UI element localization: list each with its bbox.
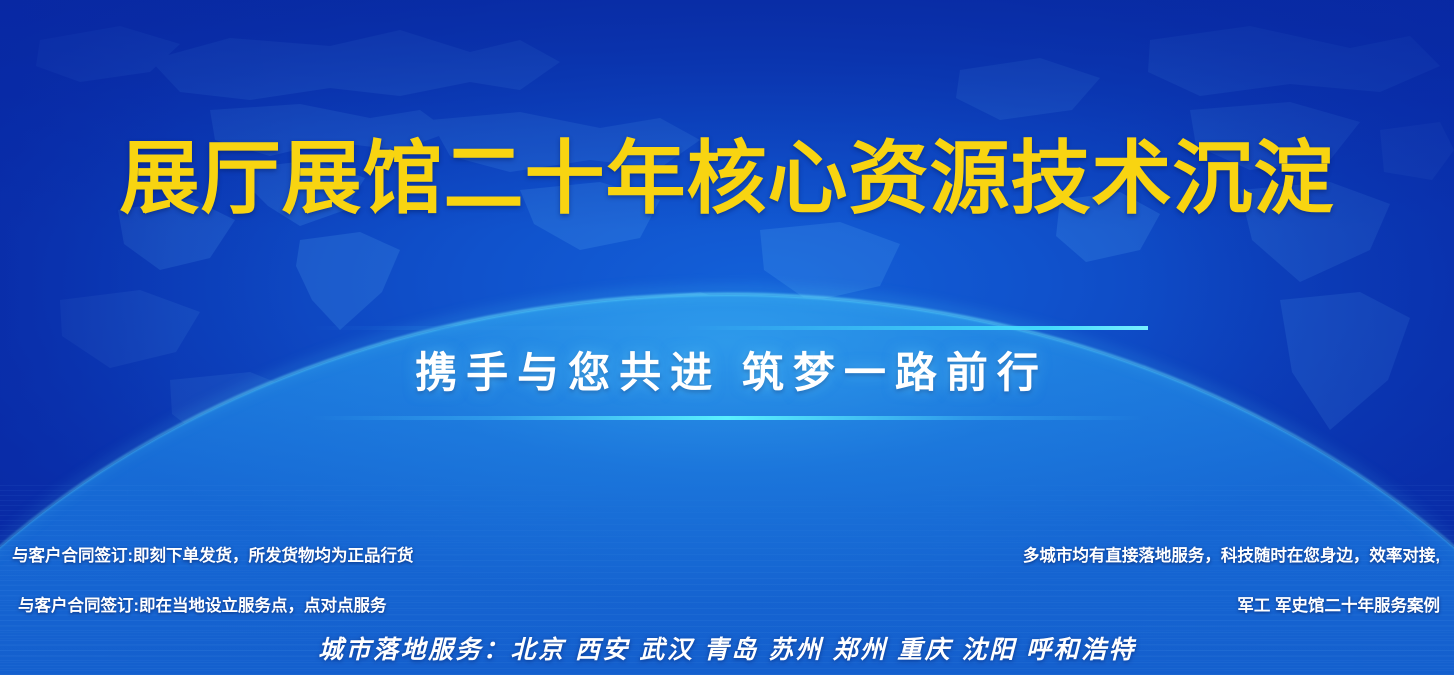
subtitle-text: 携手与您共进 筑梦一路前行 [306,330,1148,416]
cities-service-line: 城市落地服务：北京 西安 武汉 青岛 苏州 郑州 重庆 沈阳 呼和浩特 [0,630,1454,666]
subtitle-rule-bottom [306,416,1148,420]
note-right-2: 军工 军史馆二十年服务案例 [1237,592,1440,616]
subtitle-block: 携手与您共进 筑梦一路前行 [306,326,1148,420]
banner-content: 展厅展馆二十年核心资源技术沉淀 携手与您共进 筑梦一路前行 与客户合同签订:即刻… [0,0,1454,675]
main-title: 展厅展馆二十年核心资源技术沉淀 [0,133,1454,225]
promo-banner: 展厅展馆二十年核心资源技术沉淀 携手与您共进 筑梦一路前行 与客户合同签订:即刻… [0,0,1454,675]
note-right-1: 多城市均有直接落地服务，科技随时在您身边，效率对接, [1023,542,1440,566]
note-left-1: 与客户合同签订:即刻下单发货，所发货物均为正品行货 [12,542,414,566]
note-left-2: 与客户合同签订:即在当地设立服务点，点对点服务 [18,592,387,616]
